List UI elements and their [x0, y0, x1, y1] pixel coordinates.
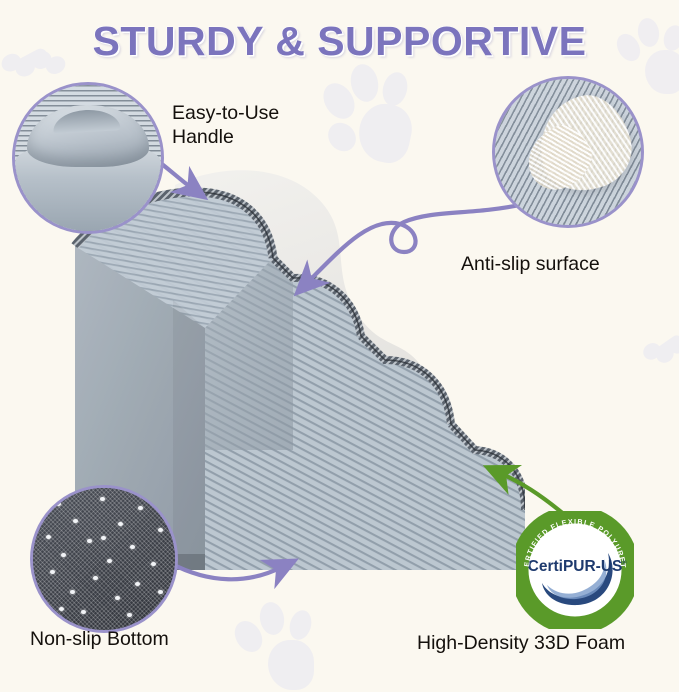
page-title: STURDY & SUPPORTIVE: [0, 18, 679, 65]
bone-watermark-right: [639, 319, 679, 380]
anti-slip-label: Anti-slip surface: [461, 253, 600, 277]
paw-watermark-bottom-center: [230, 600, 322, 692]
grip-dots: [33, 488, 175, 630]
certipur-wordmark: CertiPUR-US: [528, 558, 623, 575]
non-slip-bottom-detail-circle: [30, 485, 178, 633]
handle-detail-circle: [12, 82, 164, 234]
infographic-canvas: STURDY & SUPPORTIVE: [0, 0, 679, 679]
anti-slip-surface-detail-circle: [492, 76, 644, 228]
handle-label-line1: Easy-to-Use: [172, 102, 279, 126]
certipur-badge: CertiPUR-US ® CONTAINS CERTIFIED FLEXIBL…: [516, 511, 634, 629]
non-slip-bottom-label: Non-slip Bottom: [30, 628, 169, 652]
handle-label: Easy-to-Use Handle: [172, 102, 279, 150]
handle-label-line2: Handle: [172, 126, 279, 150]
foam-label: High-Density 33D Foam: [417, 632, 625, 656]
